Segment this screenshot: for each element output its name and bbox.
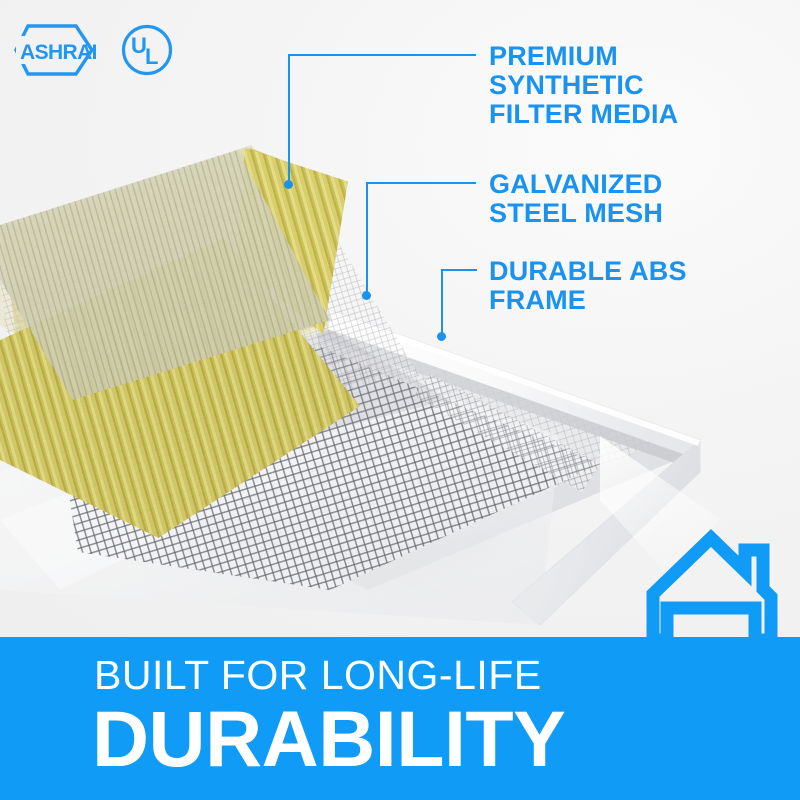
ashrae-badge: ASHRAE [14,22,96,78]
infographic-page: ASHRAE U L PREMIUM SYNTHETIC FILTER MEDI… [0,0,800,800]
certification-badges: ASHRAE U L [14,22,174,78]
connector-endpoint-dot-1 [284,180,293,189]
connector-horizontal-3 [441,269,477,271]
banner-headline-top: BUILT FOR LONG-LIFE [94,653,542,697]
connector-vertical-3 [441,269,443,335]
callout-label-abs-frame: DURABLE ABS FRAME [489,257,687,315]
connector-horizontal-1 [288,54,476,56]
callout-label-steel-mesh: GALVANIZED STEEL MESH [489,170,663,228]
connector-endpoint-dot-3 [437,332,446,341]
connector-endpoint-dot-2 [362,291,371,300]
connector-vertical-2 [366,182,368,294]
house-icon [645,528,785,640]
ul-letter-l: L [145,44,158,69]
ul-badge: U L [120,23,174,77]
banner-headline-main: DURABILITY [92,697,565,781]
callout-label-filter-media: PREMIUM SYNTHETIC FILTER MEDIA [489,42,678,129]
connector-horizontal-2 [366,182,476,184]
connector-vertical-1 [288,54,290,184]
ashrae-label: ASHRAE [20,41,96,64]
